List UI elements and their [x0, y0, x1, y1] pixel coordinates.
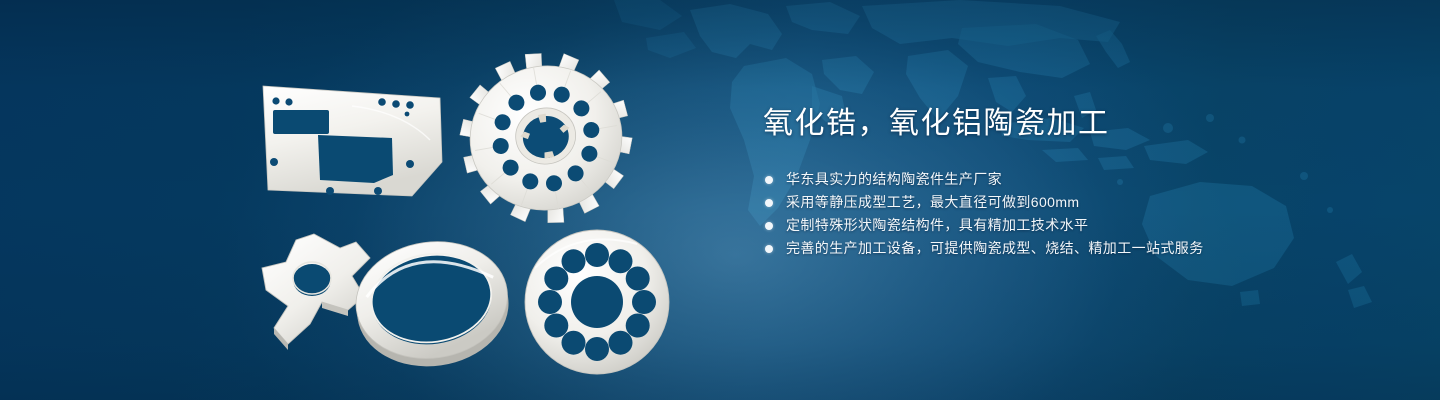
ceramic-plate-with-cutouts [252, 78, 452, 203]
ceramic-perforated-disc [520, 226, 675, 378]
feature-text: 完善的生产加工设备，可提供陶瓷成型、烧结、精加工一站式服务 [786, 237, 1204, 260]
bullet-dot-icon [765, 222, 773, 230]
product-images-group [0, 0, 740, 400]
bullet-dot-icon [765, 176, 773, 184]
feature-list: 华东具实力的结构陶瓷件生产厂家 采用等静压成型工艺，最大直径可做到600mm 定… [763, 168, 1383, 260]
promo-banner: 氧化锆，氧化铝陶瓷加工 华东具实力的结构陶瓷件生产厂家 采用等静压成型工艺，最大… [0, 0, 1440, 400]
ceramic-impeller [450, 48, 642, 233]
bullet-dot-icon [765, 199, 773, 207]
feature-text: 采用等静压成型工艺，最大直径可做到600mm [786, 191, 1079, 214]
banner-text-block: 氧化锆，氧化铝陶瓷加工 华东具实力的结构陶瓷件生产厂家 采用等静压成型工艺，最大… [763, 104, 1383, 260]
bullet-dot-icon [765, 245, 773, 253]
ceramic-ring [350, 232, 515, 372]
list-item: 完善的生产加工设备，可提供陶瓷成型、烧结、精加工一站式服务 [763, 237, 1383, 260]
feature-text: 定制特殊形状陶瓷结构件，具有精加工技术水平 [786, 214, 1088, 237]
list-item: 采用等静压成型工艺，最大直径可做到600mm [763, 191, 1383, 214]
list-item: 定制特殊形状陶瓷结构件，具有精加工技术水平 [763, 214, 1383, 237]
list-item: 华东具实力的结构陶瓷件生产厂家 [763, 168, 1383, 191]
feature-text: 华东具实力的结构陶瓷件生产厂家 [786, 168, 1002, 191]
banner-title: 氧化锆，氧化铝陶瓷加工 [763, 104, 1383, 144]
